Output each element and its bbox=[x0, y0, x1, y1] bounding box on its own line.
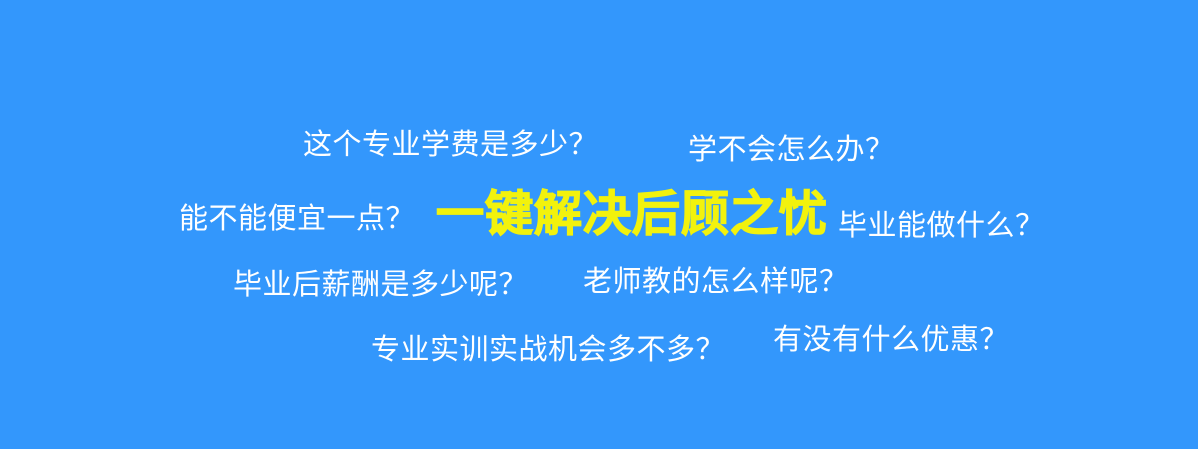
headline-slogan: 一键解决后顾之忧 bbox=[436, 191, 828, 239]
promo-banner: 这个专业学费是多少？ 学不会怎么办？ 能不能便宜一点？ 一键解决后顾之忧 毕业能… bbox=[0, 0, 1198, 449]
question-graduate-salary: 毕业后薪酬是多少呢？ bbox=[233, 271, 528, 300]
question-discount: 有没有什么优惠？ bbox=[773, 326, 1009, 355]
question-cannot-learn: 学不会怎么办？ bbox=[688, 136, 895, 165]
question-cheaper-price: 能不能便宜一点？ bbox=[179, 205, 415, 234]
question-practical-training: 专业实训实战机会多不多？ bbox=[371, 336, 725, 365]
question-graduate-job: 毕业能做什么？ bbox=[838, 212, 1045, 241]
question-tuition: 这个专业学费是多少？ bbox=[303, 131, 598, 160]
question-teaching-quality: 老师教的怎么样呢？ bbox=[583, 268, 849, 297]
